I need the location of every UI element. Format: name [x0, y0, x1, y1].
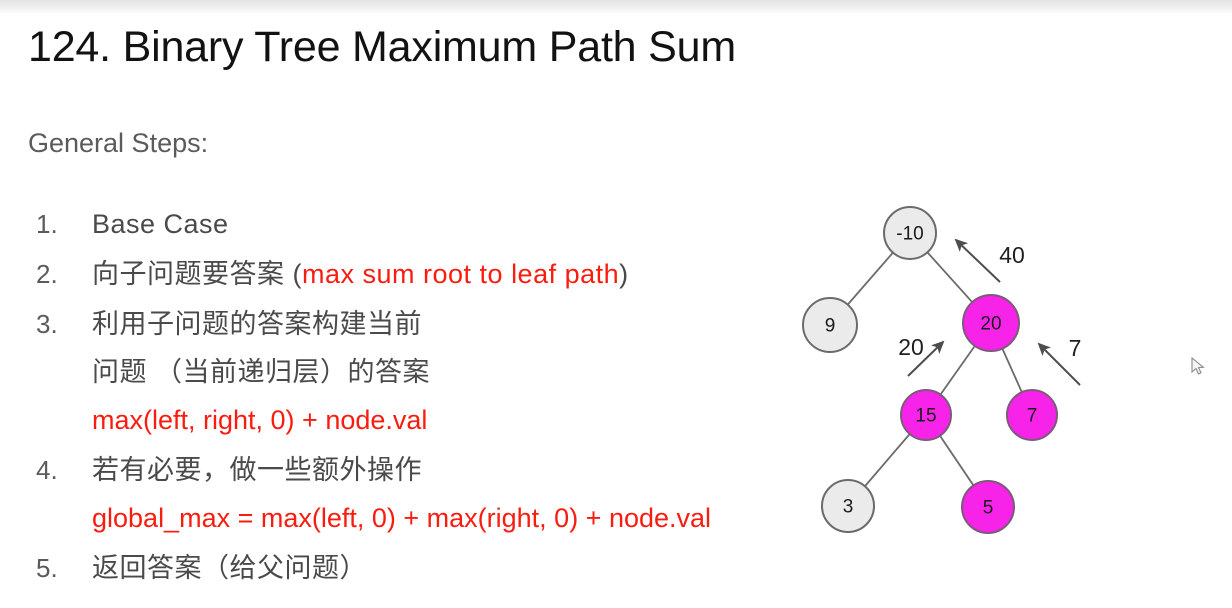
step-text-suffix: )	[619, 259, 629, 289]
tree-node-label: 3	[843, 497, 854, 518]
step-item: 4.若有必要，做一些额外操作global_max = max(left, 0) …	[28, 446, 828, 542]
tree-node: 5	[962, 481, 1014, 533]
step-item: 2.向子问题要答案 (max sum root to leaf path)	[28, 250, 828, 298]
tree-node: 9	[803, 298, 857, 352]
tree-edge	[848, 253, 893, 305]
step-item: 5.返回答案（给父问题）	[28, 544, 828, 592]
tree-svg: -109201573540207	[780, 190, 1180, 570]
tree-edge	[865, 434, 910, 486]
tree-node: 15	[901, 390, 951, 440]
tree-node-label: -10	[896, 224, 923, 245]
section-subtitle: General Steps:	[28, 128, 208, 159]
tree-node-label: 9	[825, 316, 836, 337]
mouse-pointer-icon	[1191, 357, 1205, 375]
tree-edge	[927, 252, 972, 302]
step-number: 4.	[28, 446, 92, 494]
binary-tree-diagram: -109201573540207	[780, 190, 1180, 570]
step-body: 若有必要，做一些额外操作global_max = max(left, 0) + …	[92, 446, 828, 542]
tree-edge	[940, 346, 974, 395]
tree-node: 20	[963, 295, 1019, 351]
step-text-line: 利用子问题的答案构建当前	[92, 300, 828, 348]
tree-node-label: 5	[983, 498, 994, 519]
step-body: Base Case	[92, 200, 828, 248]
step-item: 3.利用子问题的答案构建当前问题 （当前递归层）的答案max(left, rig…	[28, 300, 828, 444]
step-body: 返回答案（给父问题）	[92, 544, 828, 592]
tree-node-label: 15	[915, 406, 936, 427]
step-code-line: max(left, right, 0) + node.val	[92, 396, 828, 444]
slide-canvas: 124. Binary Tree Maximum Path Sum Genera…	[0, 0, 1232, 608]
step-text-line: 返回答案（给父问题）	[92, 544, 828, 592]
tree-edge	[940, 436, 973, 486]
tree-node: 3	[822, 480, 874, 532]
page-title: 124. Binary Tree Maximum Path Sum	[28, 24, 736, 71]
step-number: 3.	[28, 300, 92, 348]
step-number: 1.	[28, 200, 92, 248]
tree-node: 7	[1007, 390, 1057, 440]
step-text-highlight: max sum root to leaf path	[302, 259, 619, 289]
tree-node-label: 20	[980, 314, 1001, 335]
step-text-prefix: 向子问题要答案 (	[92, 259, 302, 289]
annotation-label: 20	[898, 334, 924, 360]
step-body: 向子问题要答案 (max sum root to leaf path)	[92, 250, 828, 298]
step-number: 2.	[28, 250, 92, 298]
step-item: 1.Base Case	[28, 200, 828, 248]
tree-node-label: 7	[1027, 406, 1038, 427]
tree-node: -10	[884, 207, 936, 259]
step-number: 5.	[28, 544, 92, 592]
step-text-line: 向子问题要答案 (max sum root to leaf path)	[92, 250, 828, 298]
step-text-line: 若有必要，做一些额外操作	[92, 446, 828, 494]
annotation-arrow	[956, 240, 1000, 282]
annotation-label: 7	[1069, 335, 1082, 361]
top-gradient-strip	[0, 0, 1232, 14]
step-text-line: 问题 （当前递归层）的答案	[92, 348, 828, 396]
annotation-label: 40	[999, 242, 1025, 268]
step-body: 利用子问题的答案构建当前问题 （当前递归层）的答案max(left, right…	[92, 300, 828, 444]
tree-edge	[1002, 349, 1021, 393]
step-code-line: global_max = max(left, 0) + max(right, 0…	[92, 494, 828, 542]
step-text-line: Base Case	[92, 200, 828, 248]
steps-list: 1.Base Case2.向子问题要答案 (max sum root to le…	[28, 200, 828, 594]
